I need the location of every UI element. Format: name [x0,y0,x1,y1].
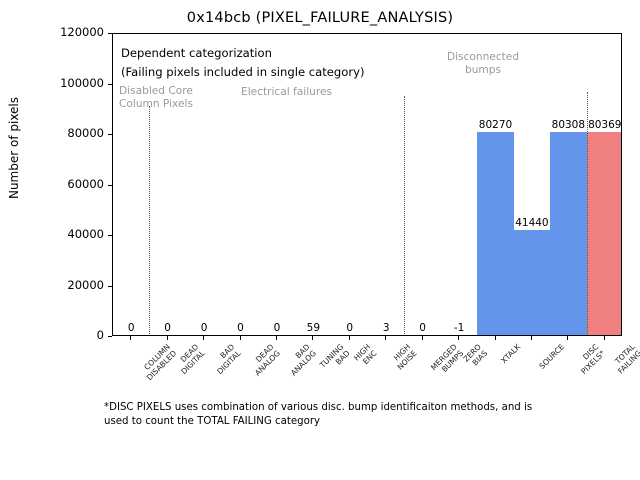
x-tick-mark [458,336,459,340]
x-tick-label: DEAD ANALOG [247,343,282,378]
category-divider [149,106,150,335]
x-tick-mark [567,336,568,340]
x-tick-label: MERGED BUMPS [429,343,465,379]
x-tick-label: DEAD DIGITAL [173,343,206,376]
y-tick-label: 120000 [60,25,104,39]
x-tick-mark [312,336,313,340]
y-tick-label: 20000 [67,278,104,292]
x-tick-mark [422,336,423,340]
x-tick-mark [240,336,241,340]
bar[interactable] [477,132,513,335]
x-tick-label: BAD DIGITAL [210,343,243,376]
x-tick-label: HIGH NOISE [390,343,419,372]
x-tick-label: ZERO BIAS [462,343,489,370]
x-tick-label: HIGH ENC [353,343,379,369]
x-tick-label: XTALK [499,343,522,366]
y-tick-label: 80000 [67,126,104,140]
bar[interactable] [587,132,621,335]
bar-value-label: 80270 [463,119,527,131]
bar-value-label: 80369 [573,119,621,131]
y-tick-label: 40000 [67,227,104,241]
x-tick-mark [276,336,277,340]
x-tick-mark [385,336,386,340]
x-tick-mark [531,336,532,340]
x-tick-mark [604,336,605,340]
electrical-failures: Electrical failures [241,86,401,99]
y-tick-label: 100000 [60,76,104,90]
x-tick-label: TOTAL FAILING [610,343,640,376]
chart-title: 0x14bcb (PIXEL_FAILURE_ANALYSIS) [0,10,640,26]
plot-inner: 0000059030-180270414408030880369Dependen… [113,34,621,335]
dependent-categorization: Dependent categorization [121,46,451,61]
x-tick-label: DISC PIXELS* [574,343,607,376]
footnote: *DISC PIXELS uses combination of various… [104,401,556,428]
disabled-core-column-pixels: Disabled Core Column Pixels [119,85,249,110]
x-tick-mark [495,336,496,340]
x-tick-label: SOURCE [538,343,566,371]
x-tick-mark [203,336,204,340]
bar[interactable] [550,132,586,335]
bar[interactable] [514,230,550,335]
y-tick-label: 60000 [67,177,104,191]
plot-area: 0000059030-180270414408030880369Dependen… [112,33,622,336]
category-divider [587,92,588,335]
figure-canvas: 0x14bcb (PIXEL_FAILURE_ANALYSIS) Number … [0,0,640,480]
x-tick-label: TUNING BAD [319,343,352,376]
x-tick-mark [349,336,350,340]
x-tick-label: COLUMN DISABLED [139,343,178,382]
disconnected-bumps: Disconnected bumps [413,51,553,76]
x-tick-mark [130,336,131,340]
category-divider [404,96,405,335]
x-tick-label: BAD ANALOG [283,343,318,378]
x-tick-mark [167,336,168,340]
y-tick-mark [108,336,112,337]
y-axis-label: Number of pixels [7,38,21,258]
y-tick-label: 0 [97,328,104,342]
